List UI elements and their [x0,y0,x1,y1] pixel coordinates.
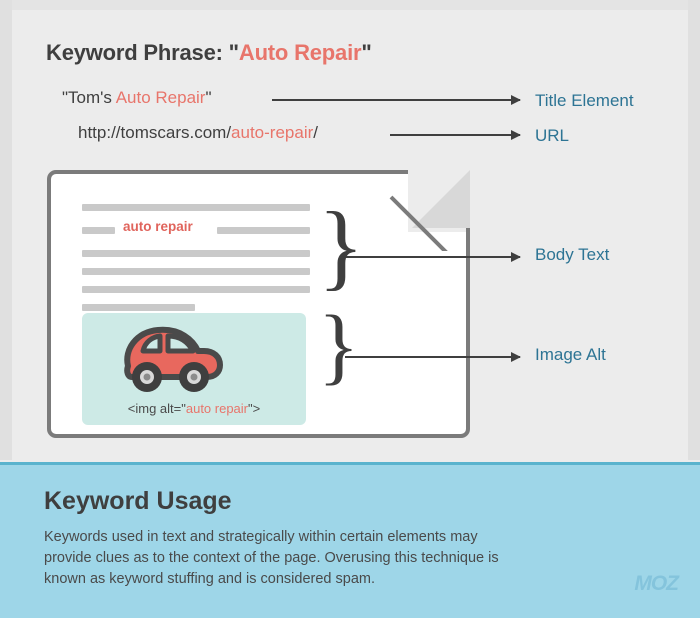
title-suffix: " [205,88,211,107]
headline-prefix: Keyword Phrase: " [46,40,239,65]
footer-title: Keyword Usage [44,487,232,516]
text-line [82,286,310,293]
image-placeholder-block: <img alt="auto repair"> [82,313,306,425]
text-line [217,227,310,234]
headline-keyword: Auto Repair [239,40,361,65]
arrow-to-url [390,134,520,136]
label-url: URL [535,126,569,146]
img-alt-prefix: <img alt=" [128,401,186,416]
brace-body-text: } [318,198,364,294]
inline-keyword: auto repair [123,219,193,234]
title-element-example: "Tom's Auto Repair" [62,88,212,108]
footer-panel: Keyword Usage Keywords used in text and … [0,462,700,618]
document-fold-vertical-join [466,228,470,238]
frame-right-edge [688,0,700,460]
frame-top-edge [0,0,700,10]
url-suffix: / [313,123,318,142]
arrow-to-image-alt [345,356,520,358]
footer-description: Keywords used in text and strategically … [44,527,514,590]
arrow-to-body-text [345,256,520,258]
text-line [82,250,310,257]
title-keyword: Auto Repair [116,88,206,107]
page-title: Keyword Phrase: "Auto Repair" [46,40,372,66]
text-line [82,227,115,234]
moz-logo: MOZ [634,572,678,596]
arrow-to-title-element [272,99,520,101]
img-alt-code-text: <img alt="auto repair"> [82,401,306,416]
img-alt-suffix: "> [248,401,260,416]
brace-image-alt: } [318,302,359,388]
url-example: http://tomscars.com/auto-repair/ [78,123,318,143]
title-prefix: "Tom's [62,88,116,107]
label-image-alt: Image Alt [535,345,606,365]
label-title-element: Title Element [535,91,634,111]
text-line [82,304,195,311]
page-mockup: auto repair <img alt="auto repair"> [47,170,470,438]
img-alt-keyword: auto repair [186,401,248,416]
infographic-canvas: Keyword Phrase: "Auto Repair" "Tom's Aut… [0,0,700,618]
url-keyword: auto-repair [231,123,313,142]
text-line [82,204,310,211]
text-line [82,268,310,275]
url-prefix: http://tomscars.com/ [78,123,231,142]
car-icon [110,320,228,396]
document-fold-edge [389,169,471,251]
label-body-text: Body Text [535,245,609,265]
headline-suffix: " [361,40,371,65]
frame-left-edge [0,0,12,460]
